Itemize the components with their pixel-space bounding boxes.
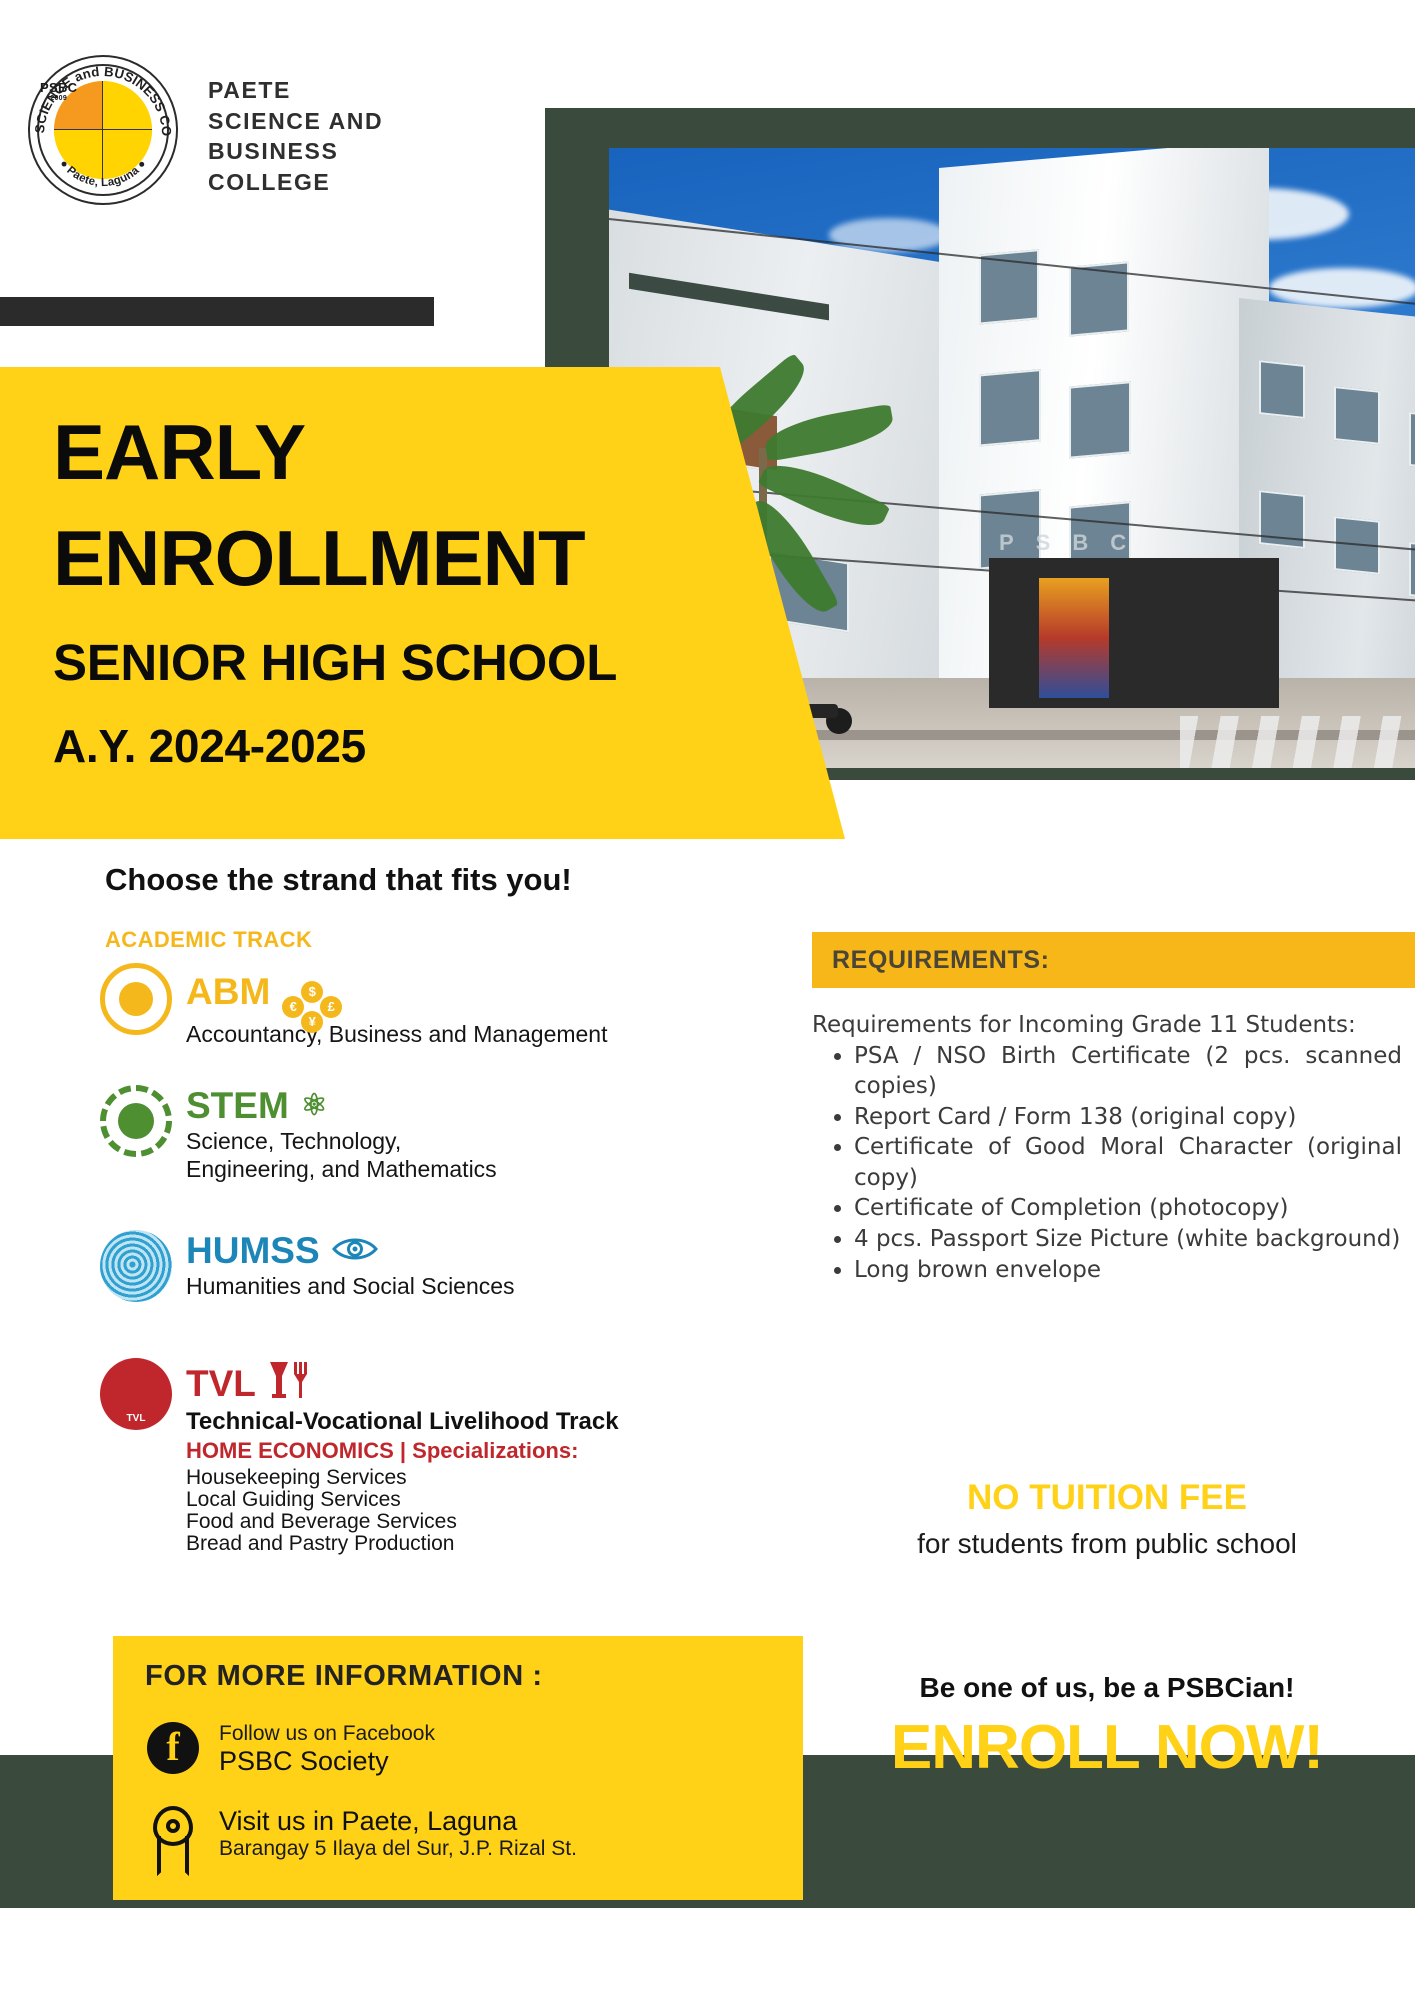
list-item: 4 pcs. Passport Size Picture (white back… xyxy=(854,1224,1402,1255)
strand-code-tvl: TVL xyxy=(186,1365,256,1402)
requirements-body: Requirements for Incoming Grade 11 Stude… xyxy=(812,1010,1402,1285)
eye-icon xyxy=(332,1232,378,1269)
strand-item-humss[interactable]: HUMSS Humanities and Social Sciences xyxy=(100,1230,515,1302)
tvl-title-row: TVL xyxy=(186,1360,619,1406)
strand-item-tvl[interactable]: TVL Technical-Vocational Livelihood Trac… xyxy=(100,1358,619,1555)
facebook-page-name: PSBC Society xyxy=(219,1746,435,1777)
brand-header: PSBC 2009 PAETE SCIENCE and BUSINESS COL… xyxy=(28,55,383,205)
requirements-title: REQUIREMENTS: xyxy=(832,946,1050,975)
strand-full-humss: Humanities and Social Sciences xyxy=(186,1272,515,1300)
strand-item-stem[interactable]: STEM ⚛ Science, Technology, Engineering,… xyxy=(100,1085,497,1183)
visit-label: Visit us in Paete, Laguna xyxy=(219,1806,577,1837)
tvl-badge-icon xyxy=(100,1358,172,1430)
address-text: Barangay 5 Ilaya del Sur, J.P. Rizal St. xyxy=(219,1837,577,1861)
atom-icon: ⚛ xyxy=(301,1091,328,1121)
school-seal-logo: PSBC 2009 PAETE SCIENCE and BUSINESS COL… xyxy=(28,55,178,205)
list-item: Long brown envelope xyxy=(854,1255,1402,1286)
abm-badge-icon xyxy=(100,963,172,1035)
facebook-contact-row[interactable]: f Follow us on Facebook PSBC Society xyxy=(147,1722,435,1777)
requirements-header-bar: REQUIREMENTS: xyxy=(812,932,1415,988)
strand-item-abm[interactable]: ABM $ € £ ¥ Accountancy, Business and Ma… xyxy=(100,963,608,1048)
list-item: Report Card / Form 138 (original copy) xyxy=(854,1102,1402,1133)
coins-icon: $ € £ ¥ xyxy=(282,965,342,1017)
strand-full-stem: Science, Technology, Engineering, and Ma… xyxy=(186,1127,497,1183)
strand-code-stem: STEM xyxy=(186,1087,289,1124)
stem-title-row: STEM ⚛ xyxy=(186,1087,497,1124)
tvl-specialization-label: HOME ECONOMICS | Specializations: xyxy=(186,1438,619,1464)
list-item: Bread and Pastry Production xyxy=(186,1533,619,1555)
facebook-label: Follow us on Facebook xyxy=(219,1722,435,1746)
school-name-line-3: BUSINESS xyxy=(208,136,383,167)
humss-title-row: HUMSS xyxy=(186,1232,515,1269)
headline-subtitle-level: SENIOR HIGH SCHOOL xyxy=(53,637,617,688)
no-tuition-headline: NO TUITION FEE xyxy=(812,1478,1402,1518)
list-item: Housekeeping Services xyxy=(186,1467,619,1489)
svg-text:● Paete, Laguna ●: ● Paete, Laguna ● xyxy=(57,158,149,189)
school-name-block: PAETE SCIENCE AND BUSINESS COLLEGE xyxy=(208,55,383,197)
poster-canvas: PSBC 2009 PAETE SCIENCE and BUSINESS COL… xyxy=(0,0,1415,2000)
facebook-icon: f xyxy=(147,1722,199,1774)
more-information-title: FOR MORE INFORMATION : xyxy=(145,1660,543,1693)
abm-title-row: ABM $ € £ ¥ xyxy=(186,965,608,1017)
strands-heading: Choose the strand that fits you! xyxy=(105,862,572,898)
list-item: Food and Beverage Services xyxy=(186,1511,619,1533)
headline-line-enrollment: ENROLLMENT xyxy=(53,519,585,597)
strand-full-tvl: Technical-Vocational Livelihood Track xyxy=(186,1408,619,1436)
enroll-now-cta[interactable]: ENROLL NOW! xyxy=(812,1712,1402,1783)
strand-code-abm: ABM xyxy=(186,973,270,1010)
photo-wall-poster xyxy=(1039,578,1109,698)
headline-line-early: EARLY xyxy=(53,413,305,491)
header-accent-bar xyxy=(0,297,434,326)
school-name-line-2: SCIENCE AND xyxy=(208,106,383,137)
photo-pedestrian-crossing xyxy=(1180,716,1415,768)
list-item: PSA / NSO Birth Certificate (2 pcs. scan… xyxy=(854,1041,1402,1102)
location-contact-row[interactable]: Visit us in Paete, Laguna Barangay 5 Ila… xyxy=(147,1806,577,1880)
photo-signage: PSBC xyxy=(999,530,1148,556)
fork-and-glass-icon xyxy=(268,1360,310,1406)
list-item: Certificate of Good Moral Character (ori… xyxy=(854,1132,1402,1193)
humss-badge-icon xyxy=(100,1230,172,1302)
stem-badge-icon xyxy=(100,1085,172,1157)
strand-code-humss: HUMSS xyxy=(186,1232,320,1269)
school-name-line-1: PAETE xyxy=(208,75,383,106)
strand-full-abm: Accountancy, Business and Management xyxy=(186,1020,608,1048)
list-item: Local Guiding Services xyxy=(186,1489,619,1511)
school-name-line-4: COLLEGE xyxy=(208,167,383,198)
tvl-specialization-list: Housekeeping Services Local Guiding Serv… xyxy=(186,1467,619,1555)
academic-track-label: ACADEMIC TRACK xyxy=(105,927,312,953)
be-one-of-us-text: Be one of us, be a PSBCian! xyxy=(812,1672,1402,1704)
no-tuition-subtext: for students from public school xyxy=(812,1528,1402,1560)
more-information-box: FOR MORE INFORMATION : f Follow us on Fa… xyxy=(113,1636,803,1900)
requirements-list: PSA / NSO Birth Certificate (2 pcs. scan… xyxy=(812,1041,1402,1286)
list-item: Certificate of Completion (photocopy) xyxy=(854,1193,1402,1224)
requirements-intro: Requirements for Incoming Grade 11 Stude… xyxy=(812,1010,1402,1041)
map-pin-icon xyxy=(147,1806,199,1880)
seal-arc-bottom-text: ● Paete, Laguna ● xyxy=(28,55,178,205)
photo-storefront xyxy=(989,558,1279,708)
headline-banner: EARLY ENROLLMENT SENIOR HIGH SCHOOL A.Y.… xyxy=(0,367,860,839)
headline-academic-year: A.Y. 2024-2025 xyxy=(53,723,366,769)
